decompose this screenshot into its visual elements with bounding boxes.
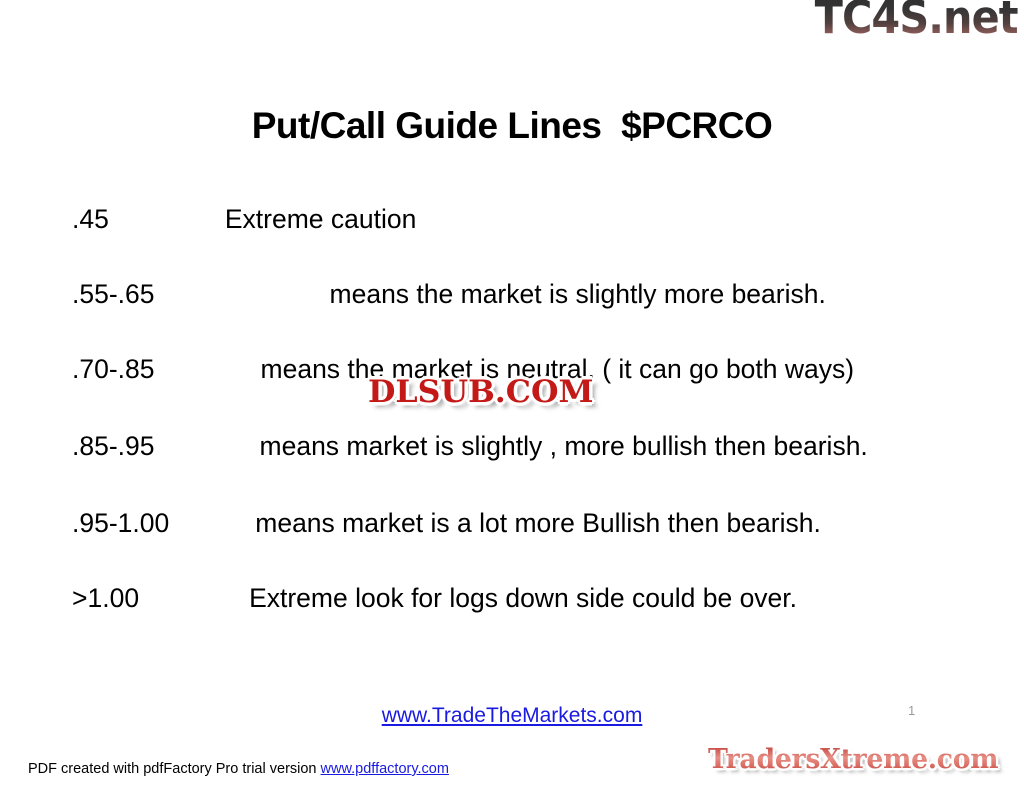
guide-row-range: .55-.65 — [72, 279, 155, 309]
guide-row-description: Extreme look for logs down side could be… — [249, 583, 797, 613]
guide-row: .95-1.00means market is a lot more Bulli… — [72, 506, 962, 541]
page-number: 1 — [908, 703, 915, 718]
trade-the-markets-link[interactable]: www.TradeTheMarkets.com — [382, 704, 643, 727]
slide-page: TC4S.net Put/Call Guide Lines $PCRCO .45… — [0, 0, 1024, 791]
tc4s-brand-logo: TC4S.net — [815, 0, 1018, 41]
pdf-factory-notice: PDF created with pdfFactory Pro trial ve… — [28, 761, 449, 777]
pdf-notice-text: PDF created with pdfFactory Pro trial ve… — [28, 761, 321, 777]
guide-row-description: Extreme caution — [225, 204, 416, 234]
page-title: Put/Call Guide Lines $PCRCO — [0, 105, 1024, 147]
guide-row-range: .70-.85 — [72, 354, 155, 384]
guide-row-description: means market is slightly , more bullish … — [260, 431, 868, 461]
guide-row-range: .85-.95 — [72, 431, 155, 461]
guide-row-description: means market is a lot more Bullish then … — [255, 508, 821, 538]
guide-row-range: .45 — [72, 204, 109, 234]
guide-row: .45Extreme caution — [72, 202, 962, 237]
dlsub-watermark: DLSUB.COM — [368, 374, 594, 410]
pdf-factory-link[interactable]: www.pdffactory.com — [321, 761, 449, 777]
guide-row-description: means the market is slightly more bearis… — [330, 279, 826, 309]
tradersxtreme-logo: TradersXtreme.com — [708, 744, 998, 775]
guide-row: >1.00Extreme look for logs down side cou… — [72, 581, 962, 616]
guide-row-range: >1.00 — [72, 583, 139, 613]
guide-row: .55-.65means the market is slightly more… — [72, 277, 962, 312]
guide-row-range: .95-1.00 — [72, 508, 169, 538]
footer-link-wrapper: www.TradeTheMarkets.com — [0, 704, 1024, 728]
guide-row: .85-.95means market is slightly , more b… — [72, 429, 962, 464]
